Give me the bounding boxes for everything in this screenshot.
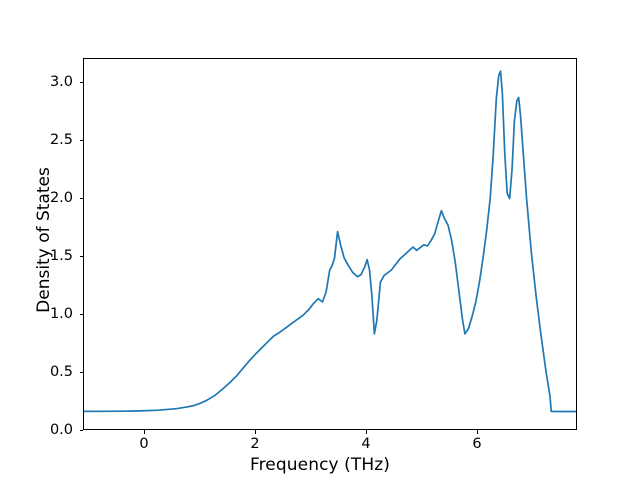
x-ticklabel-2: 2 (235, 436, 275, 452)
y-tick-2-5 (80, 140, 84, 141)
x-ticklabel-0: 0 (124, 436, 164, 452)
x-ticklabel-4: 4 (346, 436, 386, 452)
y-ticklabel-0-0: 0.0 (25, 422, 73, 438)
dos-curve (84, 59, 576, 429)
y-tick-0-5 (80, 372, 84, 373)
y-axis-label: Density of States (34, 110, 54, 370)
y-tick-2-0 (80, 198, 84, 199)
x-tick-6 (477, 430, 478, 434)
x-ticklabel-6: 6 (457, 436, 497, 452)
y-tick-0-0 (80, 430, 84, 431)
y-tick-1-5 (80, 256, 84, 257)
y-tick-3-0 (80, 82, 84, 83)
x-axis-label: Frequency (THz) (0, 455, 640, 475)
y-ticklabel-3-0: 3.0 (25, 74, 73, 90)
x-tick-2 (255, 430, 256, 434)
x-tick-0 (144, 430, 145, 434)
chart-figure: 0 2 4 6 0.0 0.5 1.0 1.5 2.0 2.5 3.0 Freq… (0, 0, 640, 480)
plot-area (83, 58, 577, 430)
x-tick-4 (366, 430, 367, 434)
y-tick-1-0 (80, 314, 84, 315)
